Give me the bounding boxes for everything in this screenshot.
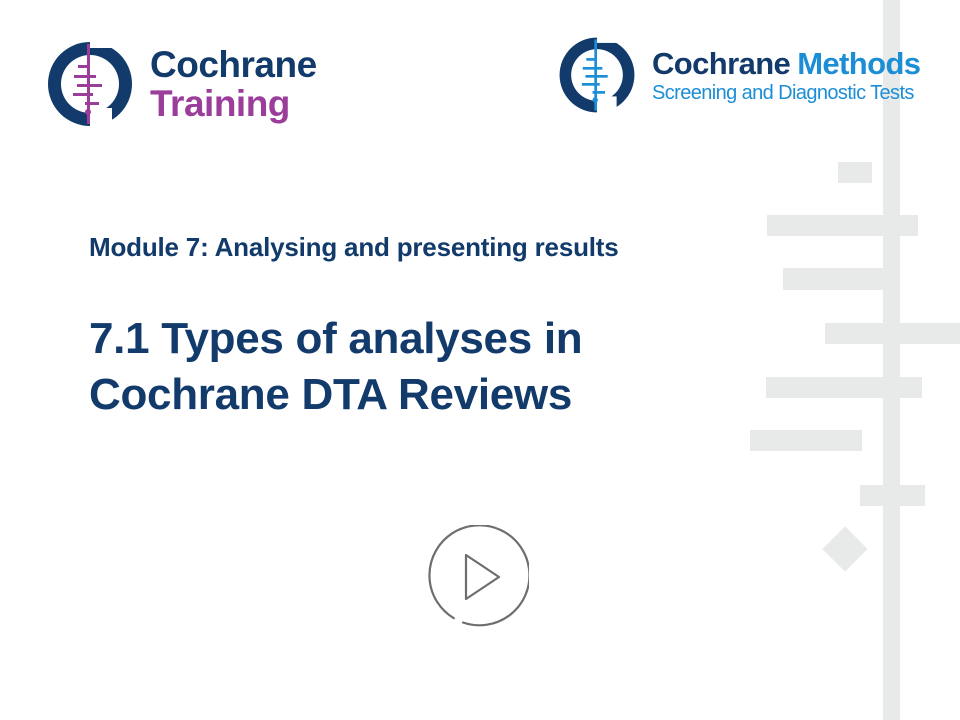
watermark-bar (783, 268, 898, 290)
logo-training-line2: Training (150, 85, 317, 122)
page-title-line1: 7.1 Types of analyses in (89, 311, 582, 367)
page-title: 7.1 Types of analyses in Cochrane DTA Re… (89, 311, 582, 424)
play-button[interactable] (425, 525, 529, 629)
watermark-bar (860, 485, 925, 506)
watermark-bar (766, 377, 922, 398)
module-label: Module 7: Analysing and presenting resul… (89, 232, 619, 263)
logo-methods-word-cochrane: Cochrane (652, 46, 790, 81)
logo-methods-word-methods: Methods (797, 46, 920, 81)
cochrane-methods-wordmark: CochraneMethods Screening and Diagnostic… (652, 48, 920, 103)
cochrane-methods-logo: CochraneMethods Screening and Diagnostic… (556, 34, 920, 116)
logo-training-line1: Cochrane (150, 46, 317, 83)
watermark-bar (767, 215, 918, 236)
cochrane-logo-mark (556, 34, 638, 116)
cochrane-training-wordmark: Cochrane Training (150, 46, 317, 122)
watermark-diamond (822, 526, 867, 571)
play-icon[interactable] (425, 525, 529, 629)
slide-canvas: Cochrane Training CochraneMethods Screen… (0, 0, 960, 720)
watermark-bar (825, 323, 960, 344)
logo-methods-line1: CochraneMethods (652, 48, 920, 79)
page-title-line2: Cochrane DTA Reviews (89, 367, 582, 423)
cochrane-training-logo: Cochrane Training (44, 38, 317, 130)
watermark-bar (838, 162, 872, 183)
logo-methods-tagline: Screening and Diagnostic Tests (652, 83, 920, 103)
cochrane-logo-mark (44, 38, 136, 130)
watermark-bar (750, 430, 862, 451)
